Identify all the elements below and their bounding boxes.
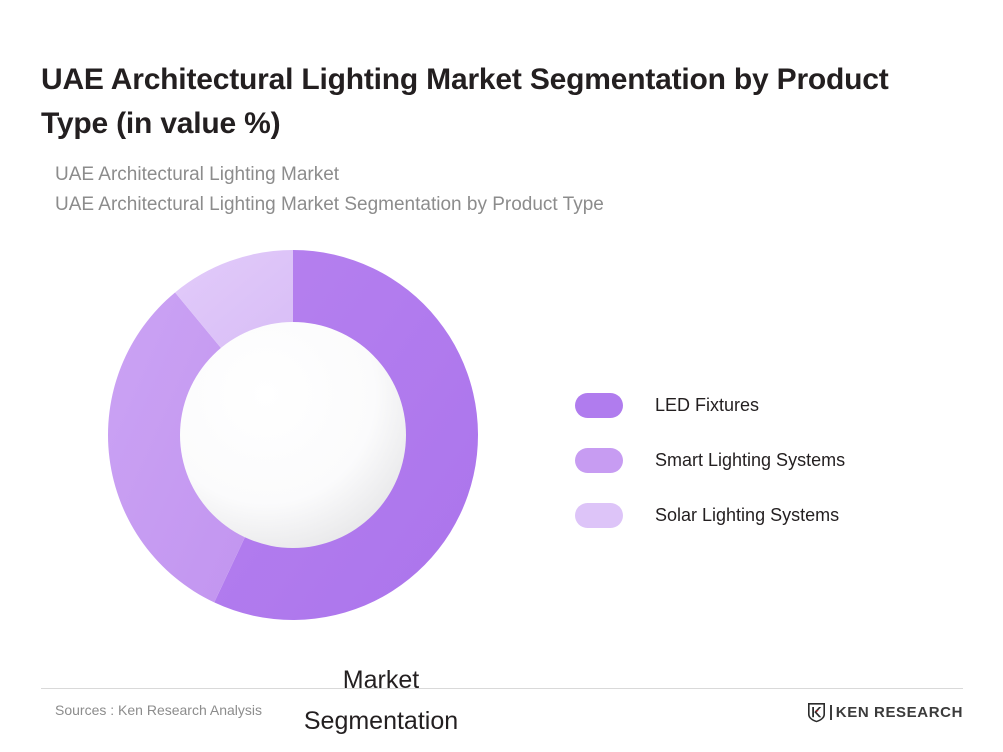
donut-chart-svg xyxy=(88,250,498,660)
legend-swatch-icon xyxy=(575,448,623,473)
legend-item-led-fixtures[interactable]: LED Fixtures xyxy=(575,378,955,433)
brand-logo: KEN RESEARCH xyxy=(807,701,963,723)
donut-center-label: Market Segmentation xyxy=(269,660,493,742)
footer-source-text: Sources : Ken Research Analysis xyxy=(55,702,262,718)
brand-name: KEN RESEARCH xyxy=(836,704,963,721)
brand-separator xyxy=(830,705,832,720)
legend-swatch-icon xyxy=(575,393,623,418)
legend-item-solar-lighting-systems[interactable]: Solar Lighting Systems xyxy=(575,488,955,543)
legend-item-label: LED Fixtures xyxy=(655,395,759,416)
donut-chart: Market Segmentation xyxy=(88,250,498,660)
donut-center-label-line-2: Segmentation xyxy=(269,701,493,742)
footer-divider xyxy=(41,688,963,689)
subtitle-line-2: UAE Architectural Lighting Market Segmen… xyxy=(55,190,875,220)
page-title: UAE Architectural Lighting Market Segmen… xyxy=(41,58,901,145)
legend-item-label: Solar Lighting Systems xyxy=(655,505,839,526)
legend-item-smart-lighting-systems[interactable]: Smart Lighting Systems xyxy=(575,433,955,488)
slide-canvas: UAE Architectural Lighting Market Segmen… xyxy=(0,0,1003,752)
chart-legend: LED Fixtures Smart Lighting Systems Sola… xyxy=(575,378,955,543)
legend-swatch-icon xyxy=(575,503,623,528)
donut-hub xyxy=(180,322,406,548)
legend-item-label: Smart Lighting Systems xyxy=(655,450,845,471)
subtitle-block: UAE Architectural Lighting Market UAE Ar… xyxy=(55,160,875,220)
donut-center-label-line-1: Market xyxy=(269,660,493,701)
subtitle-line-1: UAE Architectural Lighting Market xyxy=(55,160,875,190)
ken-research-shield-icon xyxy=(807,702,826,723)
